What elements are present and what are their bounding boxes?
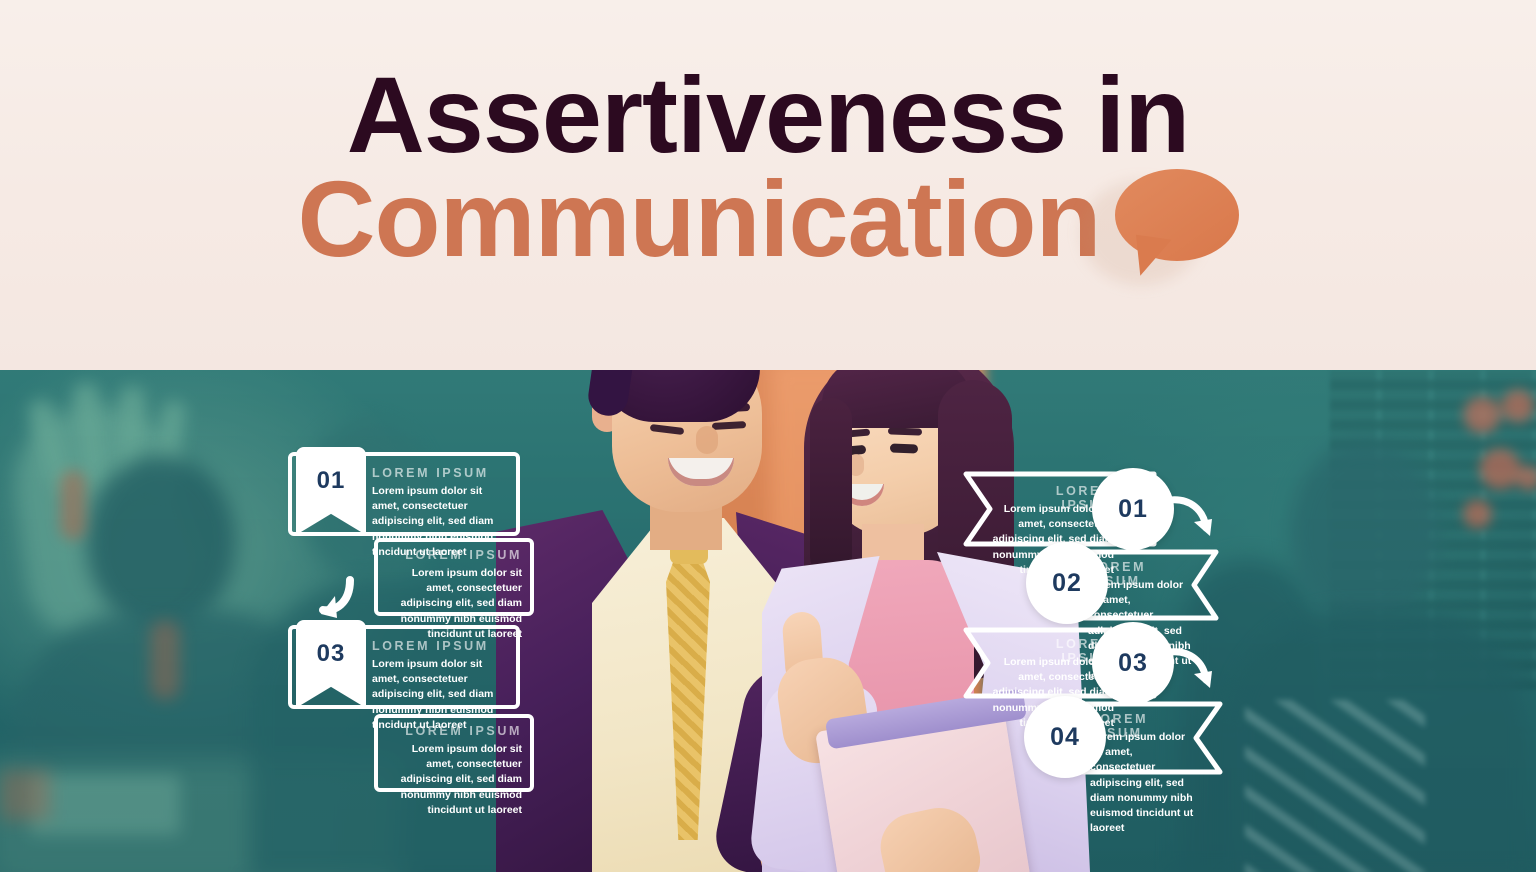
slide-canvas: Assertiveness in Communication 01 LOREM … (0, 0, 1536, 872)
left-card-01-heading: LOREM IPSUM (372, 466, 512, 480)
left-card-03-heading: LOREM IPSUM (372, 639, 512, 653)
curved-arrow-down-left-icon (304, 570, 362, 628)
left-card-03-number: 03 (317, 640, 346, 668)
speech-bubble-icon (1115, 169, 1239, 269)
right-card-02-number: 02 (1052, 569, 1082, 598)
left-card-04-heading: LOREM IPSUM (386, 724, 522, 738)
left-card-04-body: Lorem ipsum dolor sit amet, consectetuer… (386, 742, 522, 818)
page-title-line1: Assertiveness in (0, 60, 1536, 170)
page-title-line2: Communication (297, 164, 1100, 274)
header-band: Assertiveness in Communication (0, 0, 1536, 370)
speech-bubble-tail (1130, 235, 1171, 280)
right-card-01-number: 01 (1118, 495, 1148, 524)
circle-badge-02: 02 (1026, 542, 1108, 624)
circle-badge-03: 03 (1092, 622, 1174, 704)
left-card-02-heading: LOREM IPSUM (386, 548, 522, 562)
left-card-01-number: 01 (317, 467, 346, 495)
circle-badge-01: 01 (1092, 468, 1174, 550)
woman-eyebrow (888, 427, 922, 435)
curved-arrow-down-right-icon (1164, 492, 1218, 546)
title-line2-row: Communication (0, 164, 1536, 274)
woman-hair-left (810, 398, 852, 578)
curved-arrow-down-right-icon (1164, 644, 1218, 698)
right-card-04-body: Lorem ipsum dolor sit amet, consectetuer… (1090, 730, 1200, 837)
title-block: Assertiveness in Communication (0, 60, 1536, 274)
right-card-03-number: 03 (1118, 649, 1148, 678)
right-card-04-number: 04 (1050, 723, 1080, 752)
man-nose (696, 426, 718, 454)
circle-badge-04: 04 (1024, 696, 1106, 778)
woman-eye (890, 444, 918, 454)
